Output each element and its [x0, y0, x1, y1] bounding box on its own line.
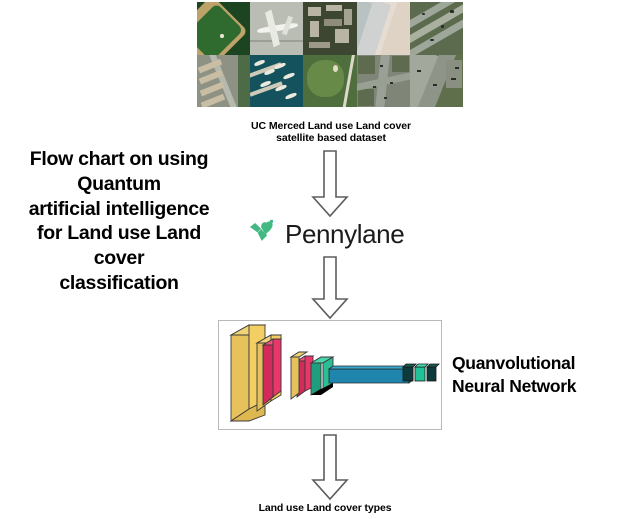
quanvolutional-network-diagram — [218, 320, 442, 430]
arrow-framework-to-model — [306, 256, 354, 320]
pennylane-logo — [246, 217, 276, 252]
layer-output-block-3 — [427, 364, 439, 381]
model-label-line-2: Neural Network — [452, 375, 640, 398]
satellite-tile-baseball-diamond — [197, 2, 250, 55]
satellite-tile-beach — [357, 2, 410, 55]
satellite-tile-overpass — [410, 55, 463, 108]
satellite-tile-airplane — [250, 2, 303, 55]
page-title-line-2: Quantum — [0, 172, 240, 197]
satellite-tile-dense-residential — [303, 2, 356, 55]
page-title-line-6: classification — [0, 271, 240, 296]
arrow-dataset-to-framework — [306, 150, 354, 218]
dataset-caption-line-2: satellite based dataset — [200, 132, 462, 144]
flowchart-canvas: UC Merced Land use Land cover satellite … — [0, 0, 640, 519]
dataset-caption-line-1: UC Merced Land use Land cover — [200, 120, 462, 132]
model-label-line-1: Quanvolutional — [452, 352, 640, 375]
satellite-tile-harbor — [250, 55, 303, 108]
layer-output-block-1 — [403, 364, 416, 381]
page-title-line-4: for Land use Land — [0, 221, 240, 246]
satellite-tile-golf-course — [303, 55, 356, 108]
layer-output-block-2 — [415, 364, 428, 381]
page-title: Flow chart on using Quantum artificial i… — [0, 147, 240, 296]
dataset-caption: UC Merced Land use Land cover satellite … — [200, 120, 462, 145]
satellite-tile-storage-tanks — [197, 55, 250, 108]
satellite-tile-freeway — [410, 2, 463, 55]
page-title-line-1: Flow chart on using — [0, 147, 240, 172]
pennylane-node: Pennylane — [246, 214, 404, 254]
arrow-model-to-output — [306, 434, 354, 502]
pennylane-wordmark: Pennylane — [285, 221, 404, 247]
satellite-tile-intersection — [357, 55, 410, 108]
output-caption: Land use Land cover types — [232, 502, 418, 514]
page-title-line-3: artificial intelligence — [0, 197, 240, 222]
dataset-image-grid — [197, 2, 463, 107]
page-title-line-5: cover — [0, 246, 240, 271]
model-label: Quanvolutional Neural Network — [452, 352, 640, 398]
layer-dense-bar — [329, 366, 413, 383]
